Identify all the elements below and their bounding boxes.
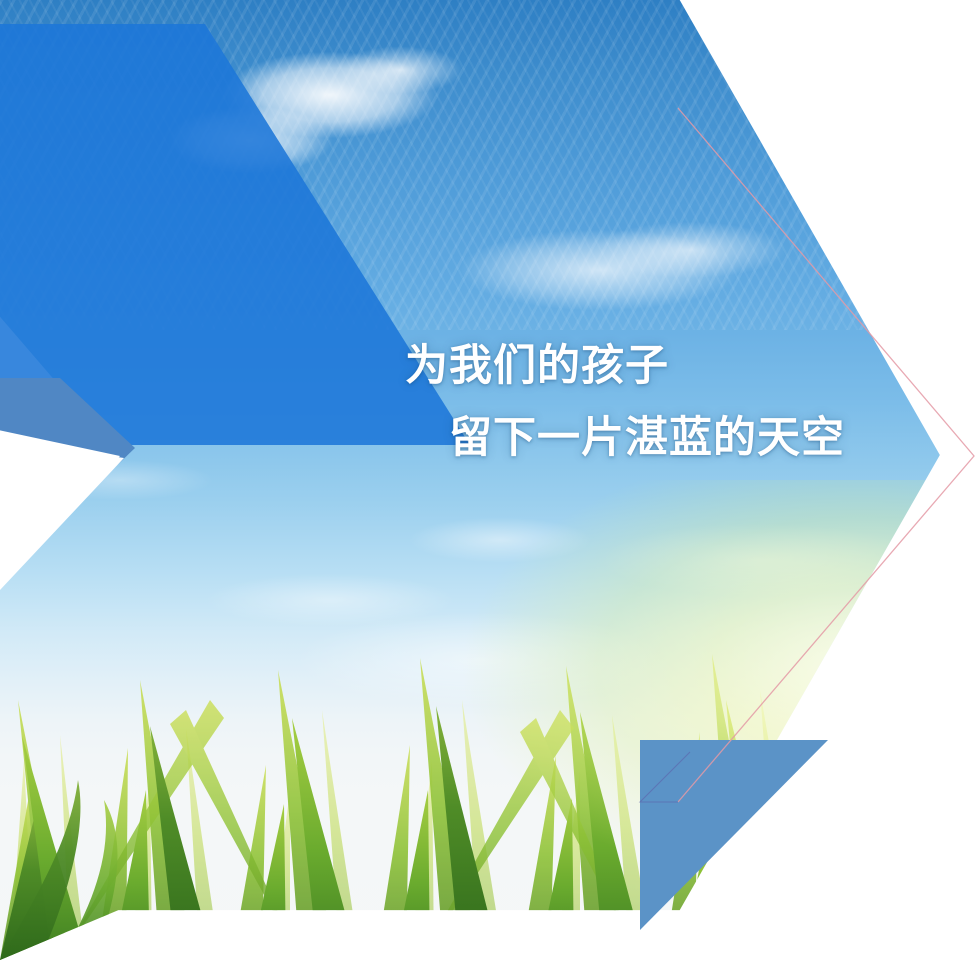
headline: 为我们的孩子 留下一片湛蓝的天空 xyxy=(0,330,860,474)
headline-line-2: 留下一片湛蓝的天空 xyxy=(0,402,860,474)
sky-grass-photo xyxy=(0,0,978,960)
headline-line-1: 为我们的孩子 xyxy=(0,330,860,402)
grass-field xyxy=(0,640,978,960)
environmental-banner: 为我们的孩子 留下一片湛蓝的天空 xyxy=(0,0,978,960)
